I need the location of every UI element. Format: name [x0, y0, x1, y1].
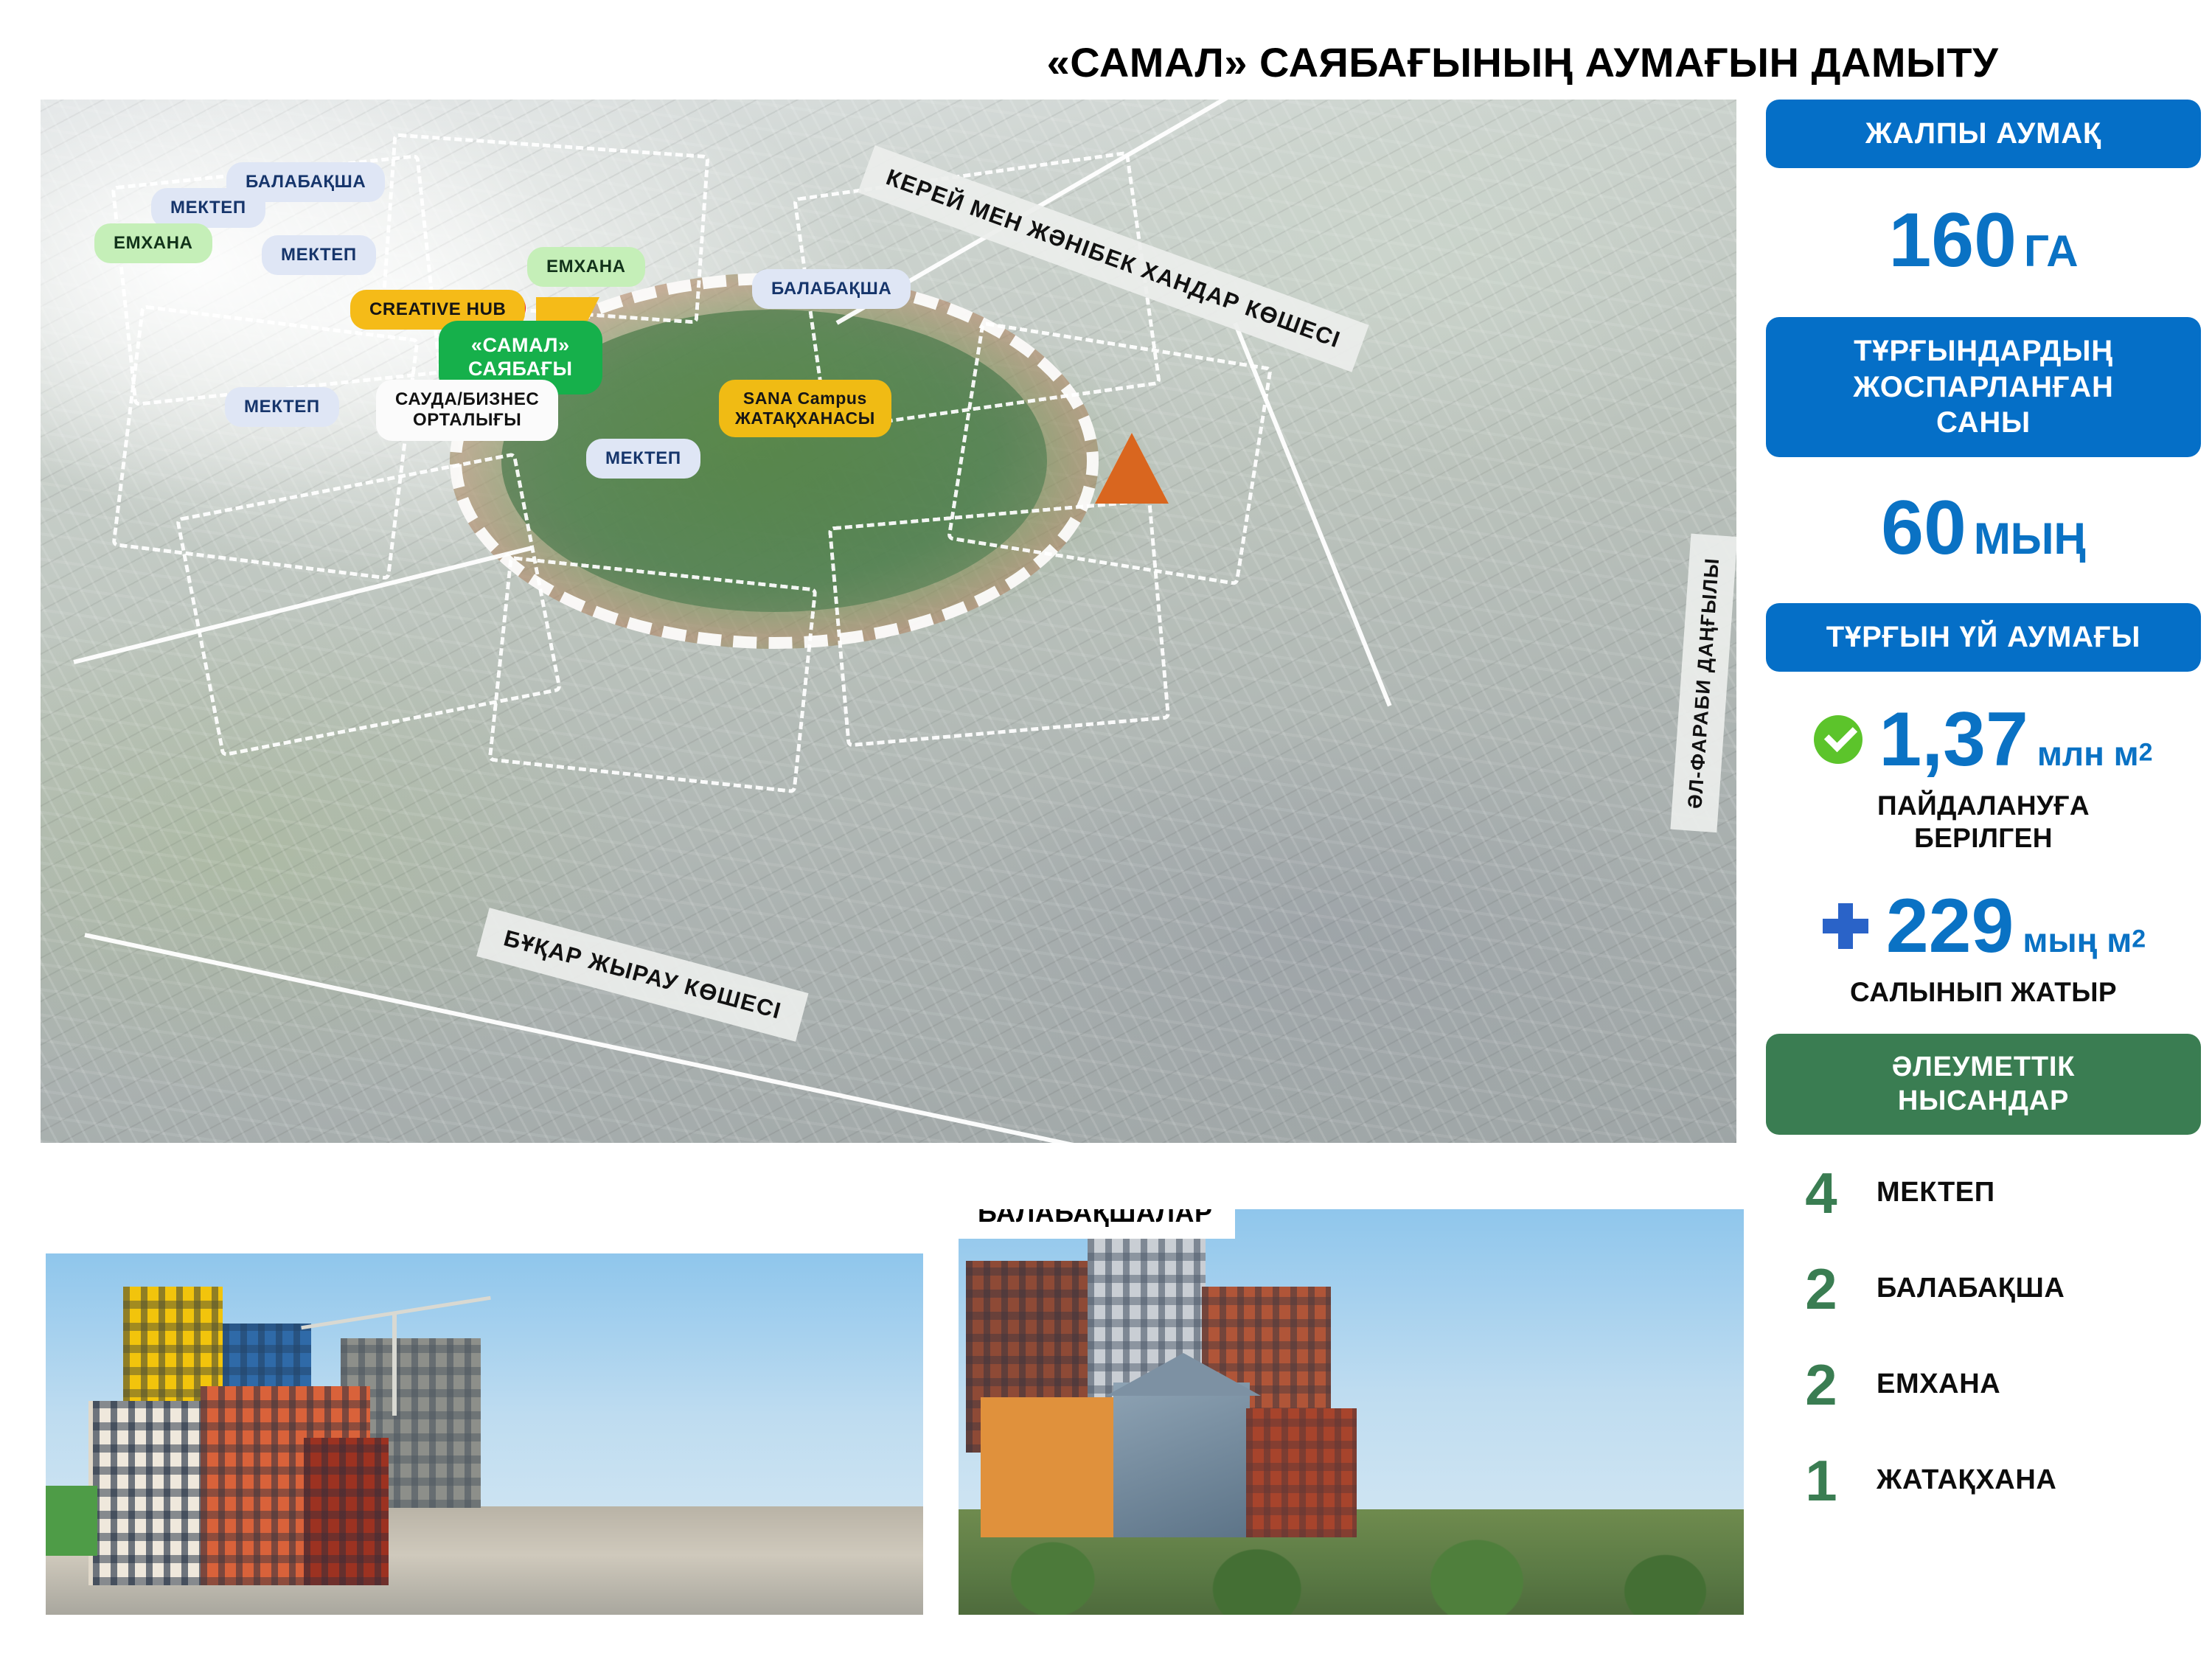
housing-completed-figure: 1,37млн м2: [1879, 701, 2152, 778]
photo-card-kindergartens[interactable]: БАЛАБАҚШАЛАР: [959, 1209, 1744, 1615]
social-count-clinics: 2: [1766, 1356, 1877, 1413]
housing-completed-unit-exponent: 2: [2139, 739, 2153, 767]
chip-housing-area: ТҰРҒЫН ҮЙ АУМАҒЫ: [1766, 603, 2201, 672]
chip-total-area: ЖАЛПЫ АУМАҚ: [1766, 100, 2201, 168]
school-field-icon: [46, 1486, 97, 1556]
housing-inprogress-figure: 229мың м2: [1886, 888, 2146, 964]
plus-icon: [1821, 902, 1870, 950]
map-label-mektep-3[interactable]: МЕКТЕП: [225, 387, 339, 427]
check-circle-icon: [1814, 715, 1863, 764]
sana-campus-area-highlight: [1095, 433, 1169, 504]
social-label-clinics: ЕМХАНА: [1877, 1368, 2000, 1400]
kg-photo-trees: [959, 1497, 1744, 1615]
photo-caption-kindergartens: БАЛАБАҚШАЛАР: [959, 1209, 1235, 1239]
kindergarten-roof-gable-icon: [1106, 1353, 1261, 1396]
stat-housing-inprogress: 229мың м2: [1766, 888, 2201, 964]
housing-completed-unit: млн м: [2037, 734, 2139, 773]
stat-population: 60МЫҢ: [1766, 490, 2201, 566]
population-unit: МЫҢ: [1974, 514, 2086, 563]
map-label-balabaksha-2[interactable]: БАЛАБАҚША: [752, 269, 911, 309]
housing-inprogress-value: 229: [1886, 883, 2014, 969]
social-label-schools: МЕКТЕП: [1877, 1177, 1995, 1208]
total-area-unit: ГА: [2024, 226, 2079, 276]
district-boundary-se: [828, 498, 1170, 747]
map-label-sauda-biznes-ortalygy[interactable]: САУДА/БИЗНЕС ОРТАЛЫҒЫ: [376, 380, 558, 441]
stat-housing-completed: 1,37млн м2: [1766, 701, 2201, 778]
photo-card-schools[interactable]: МЕКТЕПТЕР: [46, 1253, 923, 1615]
housing-inprogress-label: САЛЫНЫП ЖАТЫР: [1766, 976, 2201, 1009]
social-count-schools: 4: [1766, 1164, 1877, 1222]
social-row-kindergartens: 2 БАЛАБАҚША: [1766, 1253, 2201, 1325]
aerial-map-panel[interactable]: БАЛАБАҚША МЕКТЕП ЕМХАНА МЕКТЕП ЕМХАНА БА…: [41, 100, 1736, 1143]
map-label-emhana-1[interactable]: ЕМХАНА: [94, 223, 212, 263]
social-count-dormitory: 1: [1766, 1452, 1877, 1509]
school-red-block-windows: [304, 1438, 389, 1585]
map-label-emhana-2[interactable]: ЕМХАНА: [527, 247, 645, 287]
stats-sidebar: ЖАЛПЫ АУМАҚ 160ГА ТҰРҒЫНДАРДЫҢ ЖОСПАРЛАН…: [1766, 100, 2201, 1540]
social-count-kindergartens: 2: [1766, 1260, 1877, 1318]
social-objects-list: 4 МЕКТЕП 2 БАЛАБАҚША 2 ЕМХАНА 1 ЖАТАҚХАН…: [1766, 1157, 2201, 1517]
map-label-mektep-4[interactable]: МЕКТЕП: [586, 439, 700, 479]
social-row-clinics: 2 ЕМХАНА: [1766, 1349, 2201, 1421]
stat-total-area: 160ГА: [1766, 202, 2201, 279]
population-value: 60: [1881, 485, 1966, 571]
map-label-sana-campus[interactable]: SANA Campus ЖАТАҚХАНАСЫ: [719, 380, 891, 437]
district-boundary-s: [488, 556, 818, 793]
housing-inprogress-unit-exponent: 2: [2132, 925, 2146, 953]
chip-social-objects: ӘЛЕУМЕТТІК НЫСАНДАР: [1766, 1034, 2201, 1135]
school-building-red-block: [304, 1438, 389, 1585]
total-area-value: 160: [1888, 198, 2017, 283]
social-row-schools: 4 МЕКТЕП: [1766, 1157, 2201, 1229]
chip-population: ТҰРҒЫНДАРДЫҢ ЖОСПАРЛАНҒАН САНЫ: [1766, 317, 2201, 457]
map-label-mektep-1[interactable]: МЕКТЕП: [151, 188, 265, 228]
housing-completed-label: ПАЙДАЛАНУҒА БЕРІЛГЕН: [1766, 790, 2201, 854]
crane-mast-icon: [392, 1312, 397, 1416]
page-title: «САМАЛ» САЯБАҒЫНЫҢ АУМАҒЫН ДАМЫТУ: [848, 38, 2197, 86]
social-label-kindergartens: БАЛАБАҚША: [1877, 1273, 2065, 1304]
housing-inprogress-unit: мың м: [2023, 921, 2132, 959]
social-row-dormitory: 1 ЖАТАҚХАНА: [1766, 1444, 2201, 1517]
social-label-dormitory: ЖАТАҚХАНА: [1877, 1464, 2056, 1496]
map-label-mektep-2[interactable]: МЕКТЕП: [262, 235, 376, 275]
housing-completed-value: 1,37: [1879, 697, 2028, 782]
